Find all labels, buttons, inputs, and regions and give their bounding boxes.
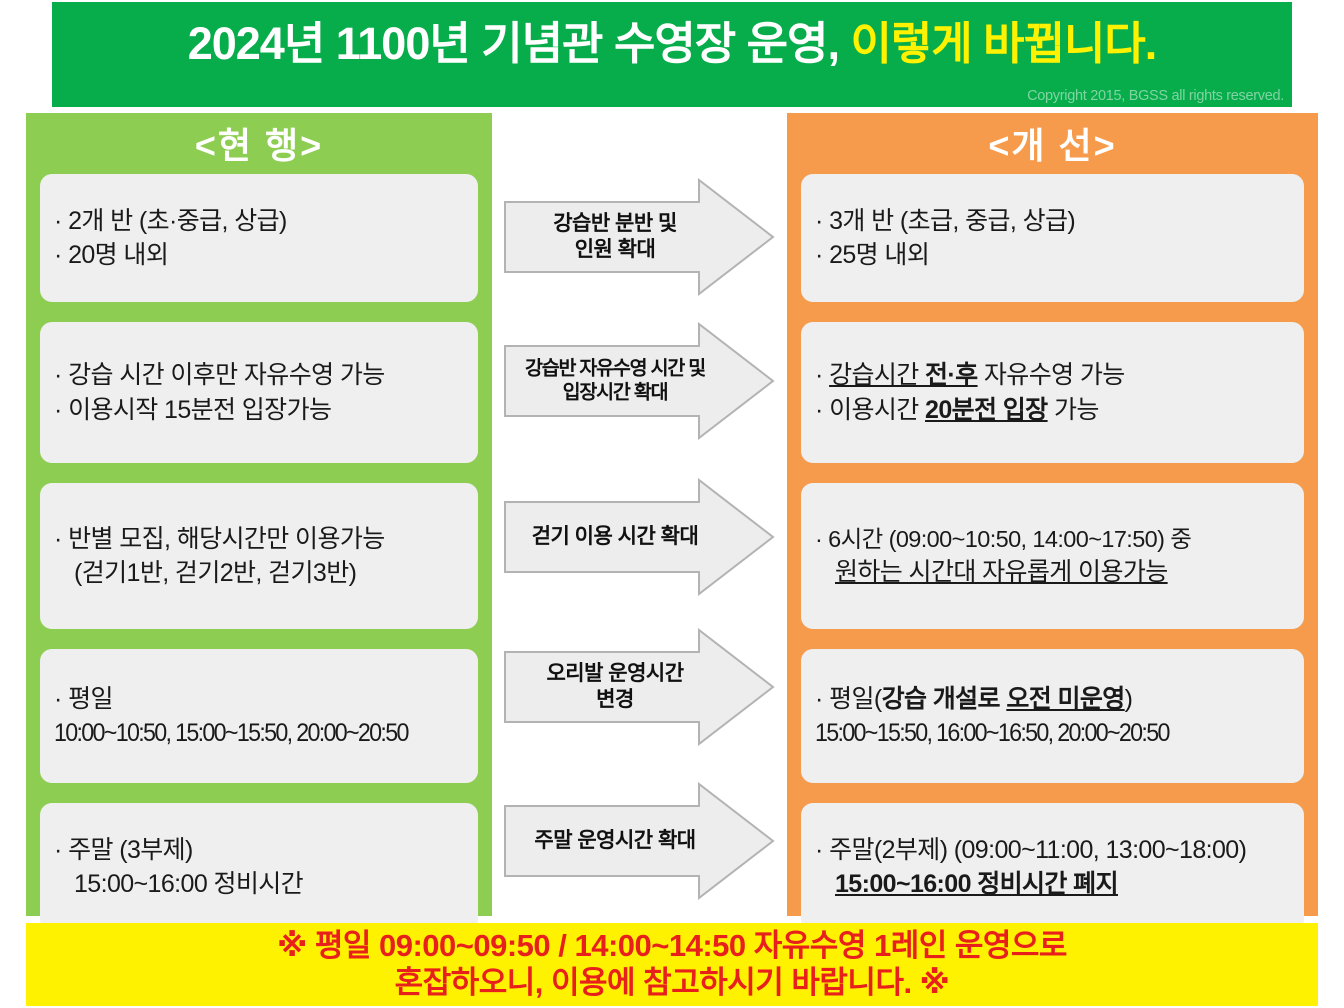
list-item: 10:00~10:50, 15:00~15:50, 20:00~20:50 [54,716,437,751]
improved-card-walking: · 6시간 (09:00~10:50, 14:00~17:50) 중 원하는 시… [801,483,1304,629]
arrow-5-label: 주말 운영시간 확대 [511,828,719,854]
list-item: · 강습 시간 이후만 자유수영 가능 [54,358,466,393]
improved-column: <개 선> · 3개 반 (초급, 중급, 상급) · 25명 내외 · 강습시… [787,113,1318,916]
arrow-5: 주말 운영시간 확대 [503,782,775,900]
list-item: · 25명 내외 [815,238,1292,273]
improved-card-weekend: · 주말(2부제) (09:00~11:00, 13:00~18:00) 15:… [801,803,1304,931]
list-item: · 평일(강습 개설로 오전 미운영) [815,682,1292,717]
current-card-classes: · 2개 반 (초·중급, 상급) · 20명 내외 [40,174,478,302]
arrow-3: 걷기 이용 시간 확대 [503,478,775,596]
page-title: 2024년 1100년 기념관 수영장 운영, 이렇게 바뀝니다. [52,20,1292,67]
header-banner: 2024년 1100년 기념관 수영장 운영, 이렇게 바뀝니다. Copyri… [52,2,1292,107]
emphasis-bold-underline: 20분전 입장 [925,396,1048,424]
arrow-5-line1: 주말 운영시간 확대 [511,828,719,854]
arrow-3-line1: 걷기 이용 시간 확대 [511,524,719,550]
arrow-3-label: 걷기 이용 시간 확대 [511,524,719,550]
arrow-1-label: 강습반 분반 및 인원 확대 [511,211,719,264]
arrow-2: 강습반 자유수영 시간 및 입장시간 확대 [503,322,775,440]
current-card-list: · 2개 반 (초·중급, 상급) · 20명 내외 · 강습 시간 이후만 자… [26,174,492,961]
list-item-head: · 평일( [815,685,882,713]
list-item: · 2개 반 (초·중급, 상급) [54,204,466,239]
arrow-1-line1: 강습반 분반 및 [511,211,719,237]
list-item: · 평일 [54,682,466,717]
current-card-freeswim: · 강습 시간 이후만 자유수영 가능 · 이용시작 15분전 입장가능 [40,322,478,463]
list-item: · 20명 내외 [54,238,466,273]
list-item: · 이용시작 15분전 입장가능 [54,393,466,428]
poster-root: 2024년 1100년 기념관 수영장 운영, 이렇게 바뀝니다. Copyri… [0,0,1344,1008]
arrow-4-line1: 오리발 운영시간 [511,661,719,687]
copyright-notice: Copyright 2015, BGSS all rights reserved… [1027,88,1284,104]
list-item: · 주말 (3부제) [54,833,466,868]
arrow-4: 오리발 운영시간 변경 [503,628,775,746]
list-item-head: 이용시간 [829,396,925,424]
emphasis-bold: 강습 개설로 [882,685,1007,713]
list-item: (걷기1반, 걷기2반, 걷기3반) [54,556,466,591]
emphasis-bold-underline: 오전 미운영 [1006,685,1124,713]
arrow-1-line2: 인원 확대 [511,237,719,263]
list-item: · 6시간 (09:00~10:50, 14:00~17:50) 중 [815,523,1292,555]
arrow-2-line1: 강습반 자유수영 시간 및 [511,357,719,381]
arrow-2-line2: 입장시간 확대 [511,381,719,405]
emphasis-bold-underline: 전·후 [925,361,978,389]
arrow-2-label: 강습반 자유수영 시간 및 입장시간 확대 [511,357,719,406]
improved-card-weekday: · 평일(강습 개설로 오전 미운영) 15:00~15:50, 16:00~1… [801,649,1304,783]
current-card-weekend: · 주말 (3부제) 15:00~16:00 정비시간 [40,803,478,931]
improved-card-list: · 3개 반 (초급, 중급, 상급) · 25명 내외 · 강습시간 전·후 … [787,174,1318,961]
list-item: · 이용시간 20분전 입장 가능 [815,393,1292,428]
emphasis-underline: 강습시간 [829,361,925,389]
list-item: · 강습시간 전·후 자유수영 가능 [815,358,1292,393]
improved-card-freeswim: · 강습시간 전·후 자유수영 가능 · 이용시간 20분전 입장 가능 [801,322,1304,463]
list-item-tail: 가능 [1048,396,1099,424]
page-title-plain: 2024년 1100년 기념관 수영장 운영, [188,18,851,69]
footer-notice-banner: ※ 평일 09:00~09:50 / 14:00~14:50 자유수영 1레인 … [26,923,1318,1006]
current-column-heading: <현 행> [26,113,492,174]
list-item: · 주말(2부제) (09:00~11:00, 13:00~18:00) [815,833,1292,868]
list-item-times: (09:00~11:00, 13:00~18:00) [954,836,1247,864]
list-item-tail: ) [1125,685,1133,713]
list-item: 15:00~15:50, 16:00~16:50, 20:00~20:50 [815,716,1259,751]
bullet: · [815,396,829,424]
improved-card-classes: · 3개 반 (초급, 중급, 상급) · 25명 내외 [801,174,1304,302]
list-item-head: · 주말(2부제) [815,836,954,864]
list-item-tail: 자유수영 가능 [978,361,1125,389]
current-column: <현 행> · 2개 반 (초·중급, 상급) · 20명 내외 · 강습 시간… [26,113,492,916]
arrow-1: 강습반 분반 및 인원 확대 [503,178,775,296]
improved-column-heading: <개 선> [787,113,1318,174]
current-card-walking: · 반별 모집, 해당시간만 이용가능 (걷기1반, 걷기2반, 걷기3반) [40,483,478,629]
list-item: · 3개 반 (초급, 중급, 상급) [815,204,1292,239]
page-title-highlight: 이렇게 바뀝니다. [850,18,1156,69]
list-item: 원하는 시간대 자유롭게 이용가능 [815,555,1292,590]
footer-line-2: 혼잡하오니, 이용에 참고하시기 바랍니다. ※ [277,965,1067,1001]
footer-line-1: ※ 평일 09:00~09:50 / 14:00~14:50 자유수영 1레인 … [277,928,1067,964]
list-item: · 반별 모집, 해당시간만 이용가능 [54,522,466,557]
bullet: · [815,361,829,389]
arrow-4-label: 오리발 운영시간 변경 [511,661,719,714]
list-item: 15:00~16:00 정비시간 [54,867,466,902]
list-item: 15:00~16:00 정비시간 폐지 [815,867,1292,902]
footer-notice-text: ※ 평일 09:00~09:50 / 14:00~14:50 자유수영 1레인 … [277,928,1067,1001]
current-card-weekday: · 평일 10:00~10:50, 15:00~15:50, 20:00~20:… [40,649,478,783]
arrow-4-line2: 변경 [511,687,719,713]
